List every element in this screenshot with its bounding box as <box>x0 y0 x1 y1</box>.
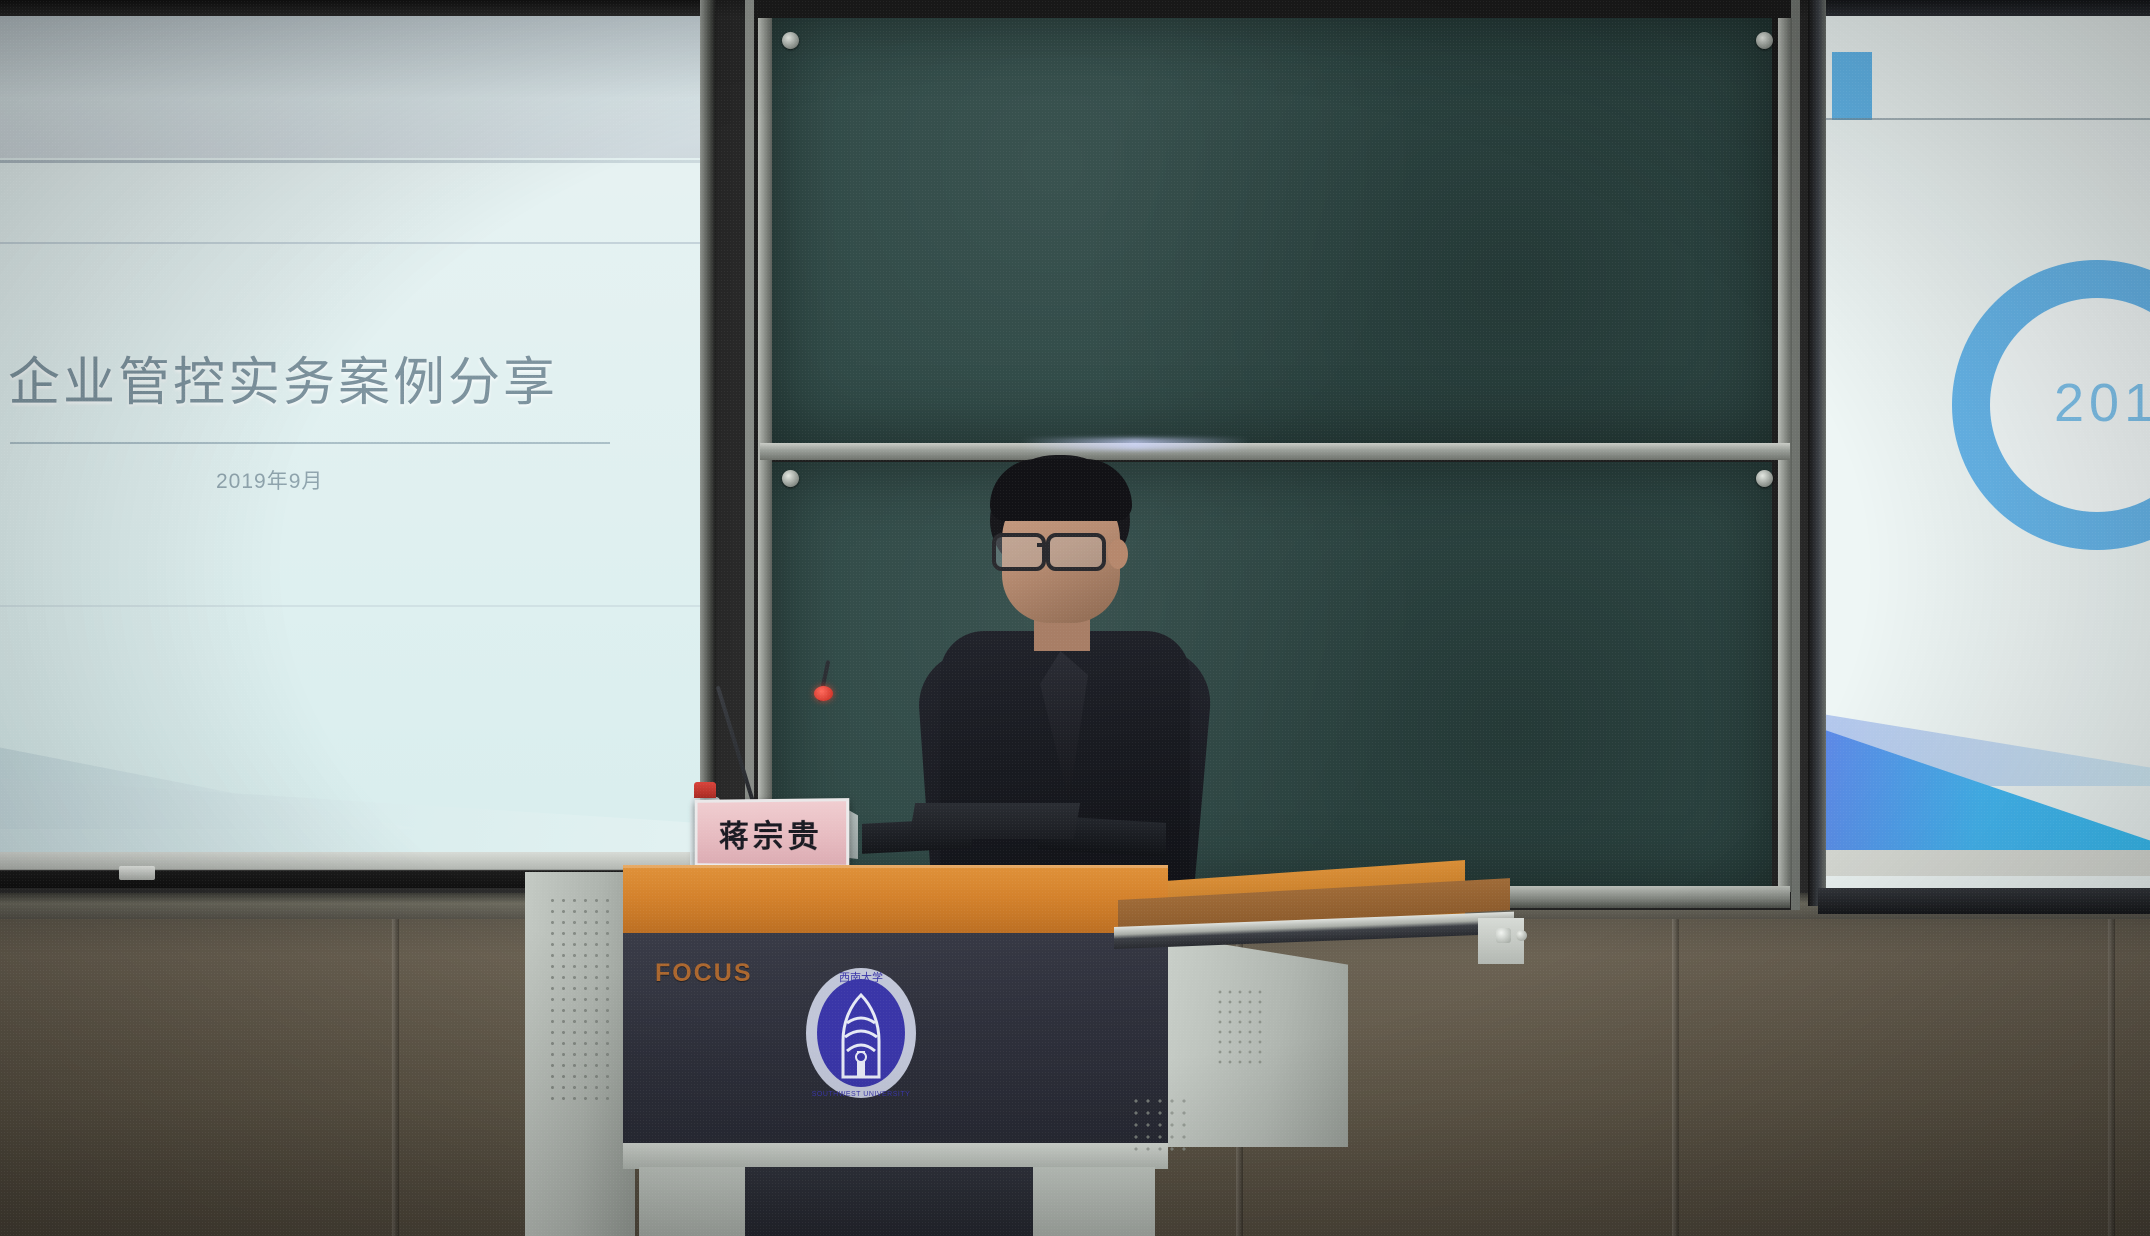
chalkboard-screw <box>1756 32 1773 49</box>
glasses-icon <box>992 533 1046 571</box>
microphone-indicator-light <box>814 686 833 701</box>
slide-accent-block <box>1832 52 1872 120</box>
glasses-icon <box>1046 533 1106 571</box>
slide-hairline <box>0 605 700 607</box>
left-screen-label-tag <box>119 866 155 880</box>
podium-top-rail <box>623 865 1168 937</box>
glasses-bridge <box>1037 543 1049 547</box>
wall-panel-seam <box>1672 919 1679 1236</box>
podium-speaker-grille-left <box>547 895 611 1105</box>
podium-brand-label: FOCUS <box>655 959 753 988</box>
wall-panel-seam <box>2108 919 2115 1236</box>
slide-header-rule <box>1822 118 2150 120</box>
laptop-lid <box>909 803 1080 839</box>
svg-text:西南大学: 西南大学 <box>839 970 883 984</box>
slide-bottom-strip <box>1822 850 2150 876</box>
slide-date: 2019年9月 <box>216 465 323 495</box>
presenter-hair-front <box>990 459 1132 521</box>
tray-latch-knob <box>1496 928 1511 943</box>
left-screen-right-edge <box>700 0 716 890</box>
svg-text:SOUTHWEST UNIVERSITY: SOUTHWEST UNIVERSITY <box>812 1091 911 1098</box>
nameplate-name: 蒋宗贵 <box>719 810 823 856</box>
slide-body <box>0 163 700 855</box>
southwest-university-crest: 西南大学 SOUTHWEST UNIVERSITY <box>803 965 919 1101</box>
right-screen-bottom-frame <box>1818 888 2150 914</box>
podium-speaker-grille-right <box>1215 987 1267 1065</box>
chalkboard-rail-middle <box>760 443 1790 460</box>
left-screen-top-frame <box>0 0 704 16</box>
chalkboard-panel-upper <box>772 18 1772 443</box>
wall-panel-seam <box>392 919 399 1236</box>
chalkboard-glare <box>1020 438 1250 450</box>
slide-top-band <box>0 10 700 158</box>
chalkboard-screw <box>1756 470 1773 487</box>
podium-base-dark-panel <box>745 1167 1033 1236</box>
right-screen-left-edge <box>1808 0 1826 906</box>
left-projection-screen: 企业管控实务案例分享 2019年9月 <box>0 10 700 855</box>
podium-base-band <box>623 1143 1168 1169</box>
slide-title-divider <box>10 442 610 444</box>
slide-title: 企业管控实务案例分享 <box>8 340 658 415</box>
right-projection-screen: 2019 <box>1822 14 2150 894</box>
chalkboard-screw <box>782 470 799 487</box>
right-screen-top-frame <box>1818 0 2150 16</box>
presenter-ear <box>1108 539 1128 569</box>
laptop-on-podium <box>870 803 1160 863</box>
podium-speaker-grille-lower <box>1130 1095 1188 1155</box>
slide-year-label: 2019 <box>2054 372 2150 434</box>
slide-hairline <box>0 242 700 244</box>
chalkboard-screw <box>782 32 799 49</box>
tray-screw <box>1516 930 1527 941</box>
keyboard-tray <box>1118 900 1518 972</box>
lecture-hall-scene: 企业管控实务案例分享 2019年9月 2019 <box>0 0 2150 1236</box>
